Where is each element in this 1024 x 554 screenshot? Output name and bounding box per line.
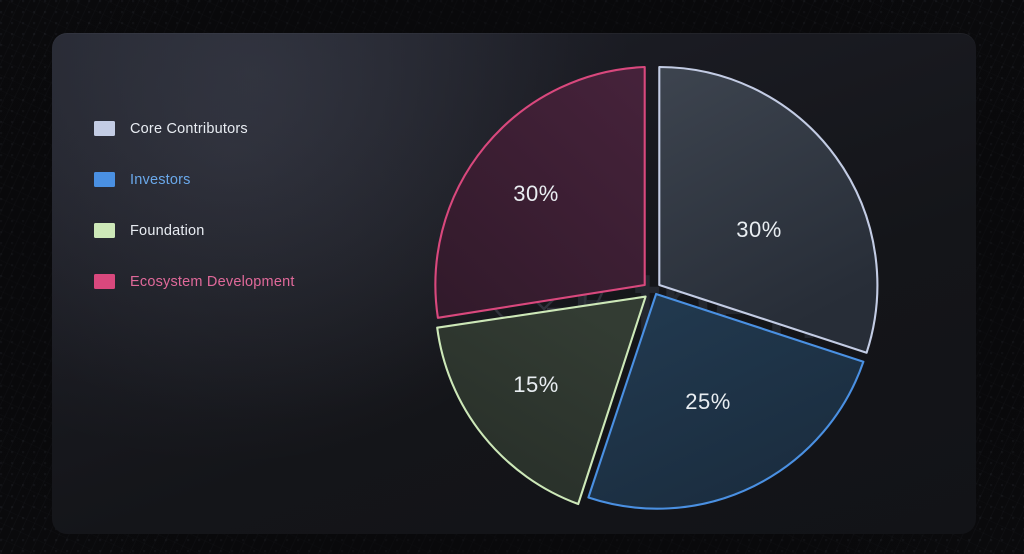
pie-label-core-contributors: 30% [736, 217, 782, 242]
pie-label-foundation: 15% [513, 372, 559, 397]
pie-chart: Ethena 30% 25% 15% 30% [52, 33, 976, 534]
chart-card: Core Contributors Investors Foundation E… [52, 33, 976, 534]
pie-label-ecosystem-development: 30% [513, 181, 559, 206]
pie-label-investors: 25% [685, 389, 731, 414]
pie-slice-ecosystem-development[interactable]: 30% [435, 67, 644, 318]
